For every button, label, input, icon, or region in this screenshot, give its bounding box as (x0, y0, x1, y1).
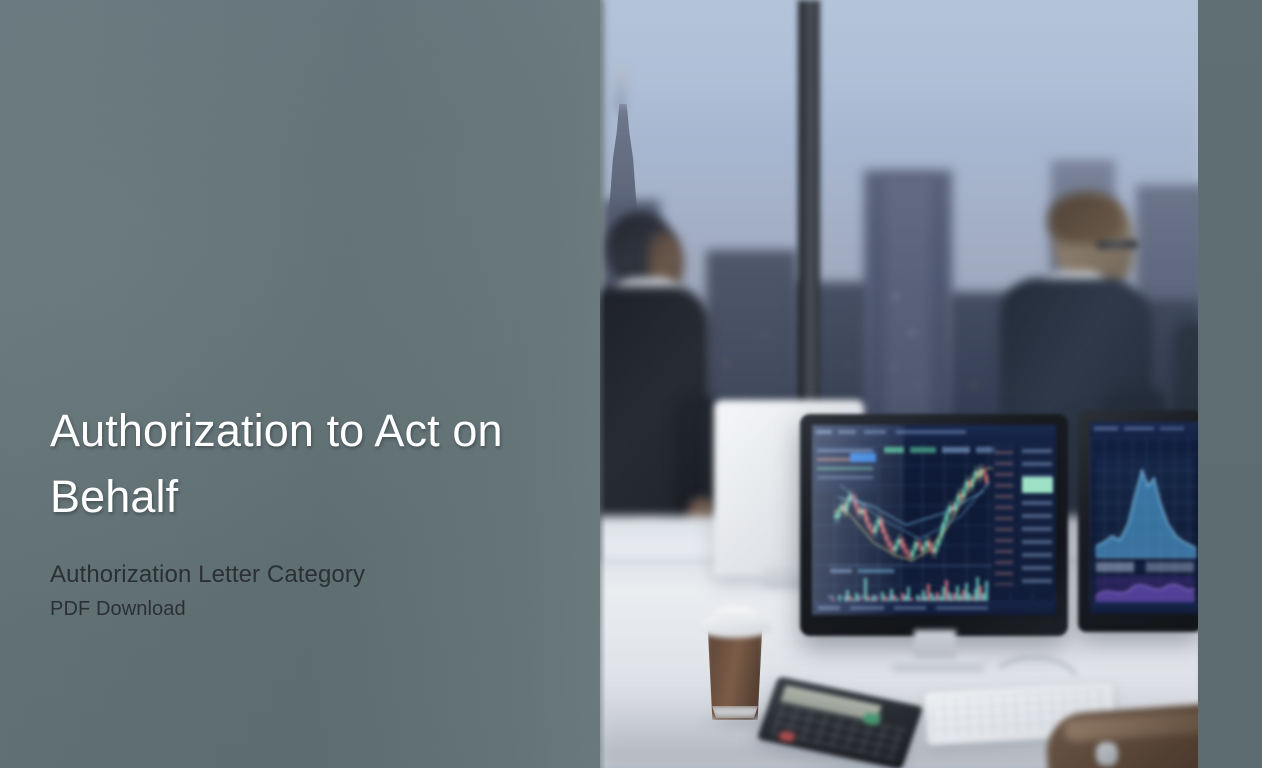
monitor-primary-base (892, 658, 984, 672)
secondary-toolbar (1090, 422, 1200, 438)
secondary-chart-band (1096, 562, 1194, 572)
hero-photograph (596, 0, 1200, 768)
page-title: Authorization to Act on Behalf (50, 398, 570, 530)
coffee-cup-base (710, 706, 760, 718)
businessman-right-hair (1048, 192, 1124, 244)
terminal-price-highlight (1022, 477, 1053, 493)
chair-adjuster-knob (1096, 742, 1118, 766)
terminal-depth-column (992, 443, 1016, 593)
volume-pane-label (830, 569, 894, 573)
window-mullion (798, 0, 820, 420)
terminal-status-bar (812, 601, 1056, 615)
support-line (838, 491, 984, 525)
monitor-primary-screen (812, 425, 1056, 615)
document-category: Authorization Letter Category (50, 558, 570, 592)
coffee-cup-lid-top (712, 606, 758, 622)
secondary-lower-wave (1096, 576, 1194, 604)
secondary-area-chart (1096, 462, 1196, 558)
secondary-lower-pane (1096, 576, 1194, 604)
title-text-block: Authorization to Act on Behalf Authoriza… (50, 398, 570, 624)
right-edge-filler (1198, 0, 1262, 768)
terminal-toolbar (812, 425, 1056, 443)
panel-light-veil (0, 0, 600, 768)
terminal-price-ladder (1018, 443, 1056, 593)
chart-time-axis (828, 595, 992, 599)
secondary-status-bar (1090, 602, 1200, 614)
businessman-right-glasses (1096, 240, 1138, 249)
document-format: PDF Download (50, 594, 570, 624)
slide-canvas: Authorization to Act on Behalf Authoriza… (0, 0, 1262, 768)
chart-pane-divider (828, 565, 992, 566)
chart-legend (884, 447, 996, 453)
title-panel: Authorization to Act on Behalf Authoriza… (0, 0, 600, 768)
moving-average-line (834, 455, 994, 565)
monitor-secondary-screen (1090, 422, 1200, 614)
ma-line (834, 468, 994, 560)
